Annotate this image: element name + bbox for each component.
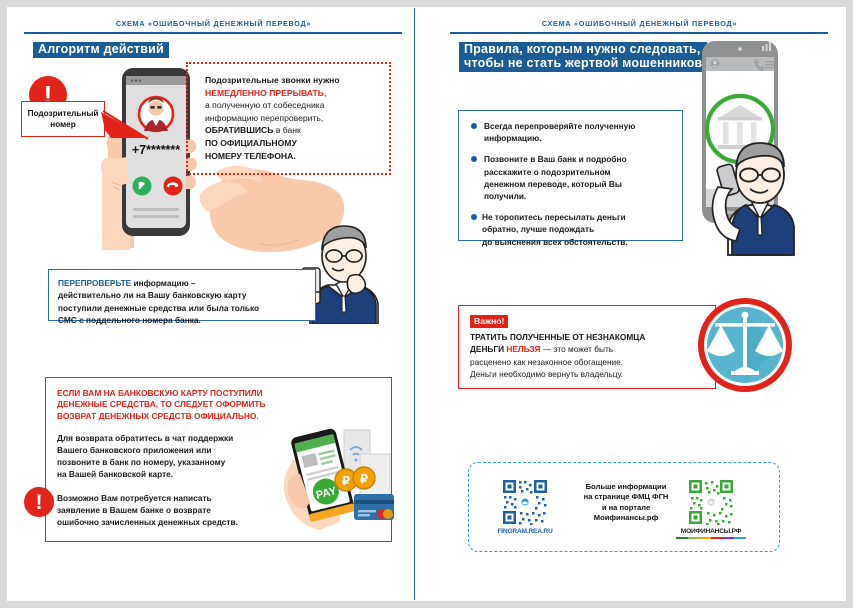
refund-p1-4: на Вашей банковской карте. [57, 469, 173, 479]
rules-list-item: Позвоните в Ваш банк и подробно расскажи… [471, 153, 676, 202]
verify-line-1-rest: информацию – [131, 278, 195, 288]
important-line-3: расценено как незаконное обогащение. [470, 357, 623, 367]
qr-caption-1: Больше информации [586, 482, 667, 491]
page-edge-bottom [0, 601, 853, 608]
refund-p1-1: Для возврата обратитесь в чат поддержки [57, 433, 233, 443]
svg-text:₽: ₽ [342, 474, 350, 488]
dotted-line-5-rest: в банк [273, 125, 300, 135]
important-line-2-red: НЕЛЬЗЯ [506, 344, 540, 354]
dotted-note-text: Подозрительные звонки нужно НЕМЕДЛЕННО П… [205, 74, 385, 162]
rule-3-line-1: Не торопитесь пересылать деньги [482, 212, 626, 222]
refund-paragraph-2: Возможно Вам потребуется написать заявле… [57, 492, 307, 528]
refund-head-1: ЕСЛИ ВАМ НА БАНКОВСКУЮ КАРТУ ПОСТУПИЛИ [57, 388, 263, 398]
rules-list: Всегда перепроверяйте полученную информа… [471, 120, 676, 257]
callout-line-1: Подозрительный [28, 109, 99, 118]
bullet-dot-icon [471, 214, 477, 220]
qr-right-underline [676, 537, 746, 539]
qr-left-label: FINGRAM.REA.RU [488, 528, 562, 535]
verify-line-4: СМС с поддельного номера банка. [58, 315, 201, 325]
rule-2-line-4: получили. [484, 191, 526, 201]
infographic-spread: СХЕМА «ОШИБОЧНЫЙ ДЕНЕЖНЫЙ ПЕРЕВОД» Алгор… [0, 0, 853, 608]
verify-line-3: поступили денежные средства или была тол… [58, 303, 259, 313]
section-title-rules: Правила, которым нужно следовать, чтобы … [459, 42, 707, 72]
header-rule-right [450, 32, 828, 34]
refund-p1-3: позвоните в банк по номеру, указанному [57, 457, 225, 467]
page-left: СХЕМА «ОШИБОЧНЫЙ ДЕНЕЖНЫЙ ПЕРЕВОД» Алгор… [0, 0, 427, 608]
verify-info-text: ПЕРЕПРОВЕРЬТЕ информацию – действительно… [58, 277, 310, 327]
rule-3-line-2: обратно, лучше подождать [482, 224, 594, 234]
refund-exclamation-badge-icon: ! [24, 487, 54, 517]
page-edge-left [0, 0, 7, 608]
dotted-line-2-highlight: НЕМЕДЛЕННО ПРЕРЫВАТЬ, [205, 88, 326, 98]
mobile-payment-illustration: PAY ₽ ₽ [278, 418, 396, 538]
section-title-algorithm: Алгоритм действий [33, 42, 169, 58]
rule-2-line-1: Позвоните в Ваш банк и подробно [484, 154, 627, 164]
rules-title-line-2: чтобы не стать жертвой мошенников [464, 56, 702, 70]
dotted-line-3: а полученную от собеседника [205, 100, 324, 110]
refund-head-2: ДЕНЕЖНЫЕ СРЕДСТВА, ТО СЛЕДУЕТ ОФОРМИТЬ [57, 399, 266, 409]
rule-2-line-2: расскажите о подозрительном [484, 167, 611, 177]
qr-right-label: МОИФИНАНСЫ.РФ [674, 528, 748, 535]
bullet-dot-icon [471, 156, 477, 162]
page-edge-top [0, 0, 853, 7]
rule-1-line-2: информацию. [484, 133, 542, 143]
rules-title-line-1: Правила, которым нужно следовать, [464, 42, 701, 56]
important-text: ТРАТИТЬ ПОЛУЧЕННЫЕ ОТ НЕЗНАКОМЦА ДЕНЬГИ … [470, 331, 710, 381]
refund-head-3: ВОЗВРАТ ДЕНЕЖНЫХ СРЕДСТВ ОФИЦИАЛЬНО. [57, 411, 259, 421]
important-line-2b: — это может быть [540, 344, 613, 354]
important-line-1: ТРАТИТЬ ПОЛУЧЕННЫЕ ОТ НЕЗНАКОМЦА [470, 332, 645, 342]
page-header-right: СХЕМА «ОШИБОЧНЫЙ ДЕНЕЖНЫЙ ПЕРЕВОД» [426, 19, 853, 28]
refund-p2-2: заявление в Вашем банке о возврате [57, 505, 211, 515]
important-line-4: Деньги необходимо вернуть владельцу. [470, 369, 623, 379]
page-edge-right [846, 0, 853, 608]
verify-line-2: действительно ли на Вашу банковскую карт… [58, 290, 246, 300]
important-tag: Важно! [470, 315, 508, 328]
callout-pointer-icon [101, 108, 157, 144]
suspicious-number-callout: Подозрительный номер [21, 101, 105, 137]
bank-phone-illustration [694, 37, 800, 257]
rules-list-item: Не торопитесь пересылать деньги обратно,… [471, 211, 676, 248]
qr-code-icon[interactable] [688, 479, 734, 525]
bullet-dot-icon [471, 123, 477, 129]
rule-1-line-1: Всегда перепроверяйте полученную [484, 121, 635, 131]
dotted-line-1: Подозрительные звонки нужно [205, 75, 340, 85]
qr-caption-2: на странице ФМЦ ФГН [584, 492, 669, 501]
dotted-line-6: ПО ОФИЦИАЛЬНОМУ [205, 138, 297, 148]
dotted-line-5: ОБРАТИВШИСЬ [205, 125, 273, 135]
page-spine-divider [414, 8, 415, 600]
qr-caption-4: Моифинансы.рф [594, 513, 658, 522]
verify-lead: ПЕРЕПРОВЕРЬТЕ [58, 278, 131, 288]
qr-code-icon[interactable] [502, 479, 548, 525]
refund-p1-2: Вашего банковского приложения или [57, 445, 211, 455]
refund-exclamation-mark: ! [36, 492, 43, 513]
rules-list-item: Всегда перепроверяйте полученную информа… [471, 120, 676, 144]
svg-text:+7*******: +7******* [132, 143, 180, 157]
rule-2-line-3: денежном переводе, который Вы [484, 179, 622, 189]
refund-p2-1: Возможно Вам потребуется написать [57, 493, 212, 503]
dotted-line-7: НОМЕРУ ТЕЛЕФОНА. [205, 151, 296, 161]
refund-p2-3: ошибочно зачисленных денежных средств. [57, 517, 238, 527]
justice-scales-icon [697, 297, 793, 393]
important-line-2a: ДЕНЬГИ [470, 344, 506, 354]
qr-caption: Больше информации на странице ФМЦ ФГН и … [574, 482, 678, 524]
svg-text:₽: ₽ [360, 472, 368, 486]
header-rule-left [24, 32, 402, 34]
qr-caption-3: и на портале [602, 503, 650, 512]
refund-paragraph-1: Для возврата обратитесь в чат поддержки … [57, 432, 297, 480]
page-right: СХЕМА «ОШИБОЧНЫЙ ДЕНЕЖНЫЙ ПЕРЕВОД» Прави… [426, 0, 853, 608]
rule-3-line-3: до выяснения всех обстоятельств. [482, 237, 628, 247]
callout-line-2: номер [50, 120, 75, 129]
dotted-line-4: информацию перепроверить, [205, 113, 323, 123]
page-header-left: СХЕМА «ОШИБОЧНЫЙ ДЕНЕЖНЫЙ ПЕРЕВОД» [0, 19, 427, 28]
